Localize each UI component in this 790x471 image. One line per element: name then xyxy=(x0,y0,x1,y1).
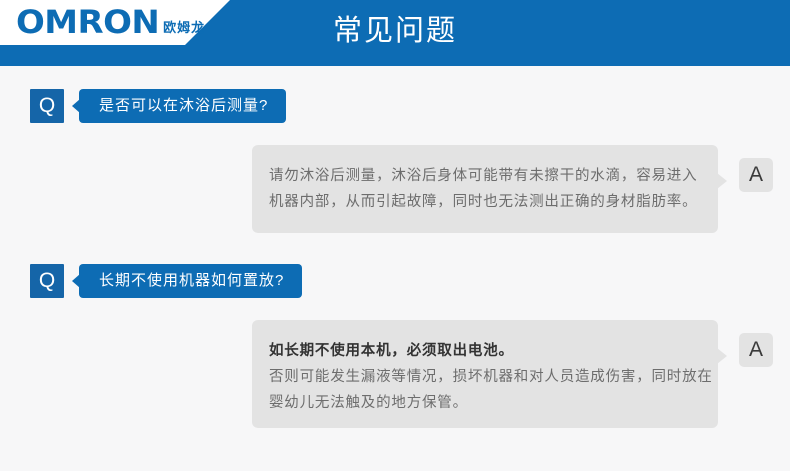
question-badge: Q xyxy=(30,89,64,123)
question-row: Q 是否可以在沐浴后测量? xyxy=(30,89,286,123)
answer-row: 如长期不使用本机，必须取出电池。 否则可能发生漏液等情况，损坏机器和对人员造成伤… xyxy=(252,320,773,428)
question-row: Q 长期不使用机器如何置放? xyxy=(30,264,302,298)
question-bubble[interactable]: 长期不使用机器如何置放? xyxy=(79,264,302,298)
answer-line: 机器内部，从而引起故障，同时也无法测出正确的身材脂肪率。 xyxy=(269,189,694,215)
answer-bubble: 请勿沐浴后测量，沐浴后身体可能带有未擦干的水滴，容易进入 机器内部，从而引起故障… xyxy=(252,145,718,233)
answer-line: 婴幼儿无法触及的地方保管。 xyxy=(269,390,694,416)
page-header: OMRON 欧姆龙 常见问题 xyxy=(0,0,790,66)
answer-row: 请勿沐浴后测量，沐浴后身体可能带有未擦干的水滴，容易进入 机器内部，从而引起故障… xyxy=(252,145,773,233)
answer-badge: A xyxy=(739,158,773,192)
answer-badge: A xyxy=(739,333,773,367)
question-badge: Q xyxy=(30,264,64,298)
answer-line: 请勿沐浴后测量，沐浴后身体可能带有未擦干的水滴，容易进入 xyxy=(269,163,694,189)
page-title: 常见问题 xyxy=(0,11,790,51)
answer-line: 如长期不使用本机，必须取出电池。 xyxy=(269,338,694,364)
answer-line: 否则可能发生漏液等情况，损坏机器和对人员造成伤害，同时放在 xyxy=(269,364,694,390)
question-bubble[interactable]: 是否可以在沐浴后测量? xyxy=(79,89,286,123)
answer-bubble: 如长期不使用本机，必须取出电池。 否则可能发生漏液等情况，损坏机器和对人员造成伤… xyxy=(252,320,718,428)
